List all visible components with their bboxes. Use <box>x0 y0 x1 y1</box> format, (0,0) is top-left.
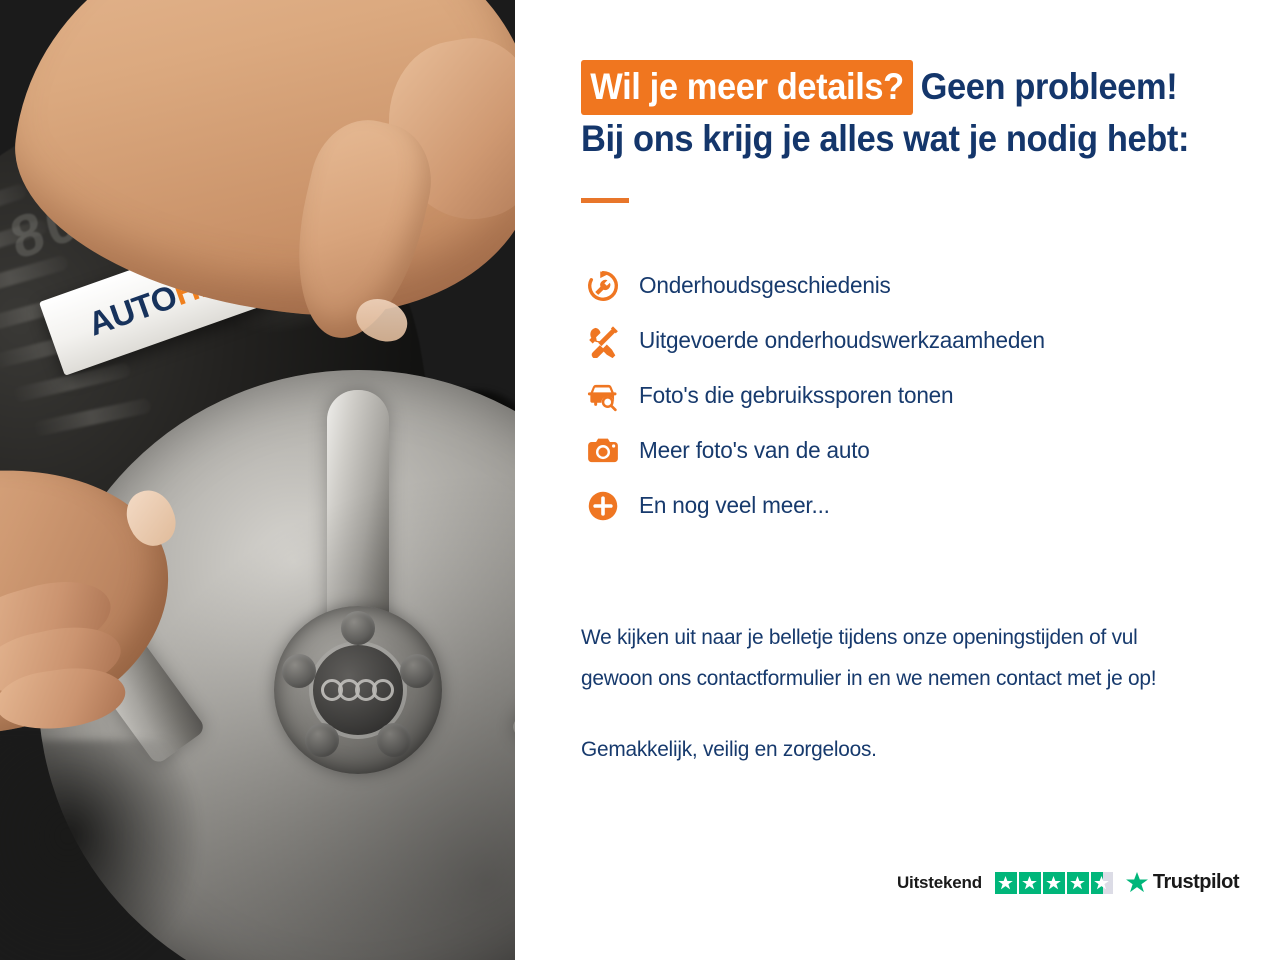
plus-circle-icon <box>581 484 625 528</box>
trustpilot-widget[interactable]: Uitstekend Trustpilot <box>897 871 1239 894</box>
trustpilot-star <box>1067 872 1089 894</box>
orange-divider <box>581 198 629 203</box>
heading-line-1: Wil je meer details?Geen probleem! <box>581 60 1195 115</box>
wheel-lug-nut <box>400 654 434 688</box>
feature-label: Uitgevoerde onderhoudswerkzaamheden <box>639 327 1045 354</box>
trustpilot-star <box>1019 872 1041 894</box>
wheel-spoke <box>327 390 389 690</box>
camera-icon <box>581 429 625 473</box>
feature-label: Foto's die gebruikssporen tonen <box>639 382 953 409</box>
paragraph-contact: We kijken uit naar je belletje tijdens o… <box>581 617 1210 699</box>
maintenance-history-icon <box>581 264 625 308</box>
trustpilot-stars <box>995 872 1113 894</box>
feature-item-maintenance-history: Onderhoudsgeschiedenis <box>581 258 1221 313</box>
feature-item-wear-photos: Foto's die gebruikssporen tonen <box>581 368 1221 423</box>
wheel-hub <box>274 606 442 774</box>
feature-label: Meer foto's van de auto <box>639 437 870 464</box>
lower-shadow <box>0 740 200 960</box>
trustpilot-star-icon <box>1126 872 1148 893</box>
tools-icon <box>581 319 625 363</box>
heading-line-2: Bij ons krijg je alles wat je nodig hebt… <box>581 115 1195 162</box>
feature-item-maintenance-work: Uitgevoerde onderhoudswerkzaamheden <box>581 313 1221 368</box>
wheel-lug-nut <box>282 654 316 688</box>
heading-line-1-rest: Geen probleem! <box>921 66 1178 107</box>
trustpilot-logo: Trustpilot <box>1126 871 1239 894</box>
trustpilot-rating-label: Uitstekend <box>897 873 982 893</box>
feature-label: En nog veel meer... <box>639 492 830 519</box>
wheel-lug-nut <box>377 723 411 757</box>
trustpilot-star <box>1091 872 1113 894</box>
feature-item-more-photos: Meer foto's van de auto <box>581 423 1221 478</box>
feature-label: Onderhoudsgeschiedenis <box>639 272 891 299</box>
feature-item-more: En nog veel meer... <box>581 478 1221 533</box>
car-inspection-icon <box>581 374 625 418</box>
heading-highlight-chip: Wil je meer details? <box>581 60 913 115</box>
photo-stage: 80 AUTOHERO 567891011121314151617181920 <box>0 0 515 960</box>
page-title: Wil je meer details?Geen probleem! Bij o… <box>581 60 1241 162</box>
feature-list: Onderhoudsgeschiedenis Uitgevoerde onder… <box>581 258 1221 533</box>
wheel-lug-nut <box>341 611 375 645</box>
hero-photo: 80 AUTOHERO 567891011121314151617181920 <box>0 0 515 960</box>
four-rings-logo-icon <box>321 679 395 701</box>
wheel-lug-nut <box>305 723 339 757</box>
trustpilot-wordmark: Trustpilot <box>1153 871 1239 894</box>
closing-text: We kijken uit naar je belletje tijdens o… <box>581 617 1229 770</box>
trustpilot-star <box>995 872 1017 894</box>
wheel-center-cap <box>309 641 407 739</box>
paragraph-tagline: Gemakkelijk, veilig en zorgeloos. <box>581 729 1210 770</box>
content-panel: Wil je meer details?Geen probleem! Bij o… <box>515 0 1280 960</box>
trustpilot-star <box>1043 872 1065 894</box>
promo-page: 80 AUTOHERO 567891011121314151617181920 <box>0 0 1280 960</box>
autohero-logo-auto: AUTO <box>83 277 181 342</box>
